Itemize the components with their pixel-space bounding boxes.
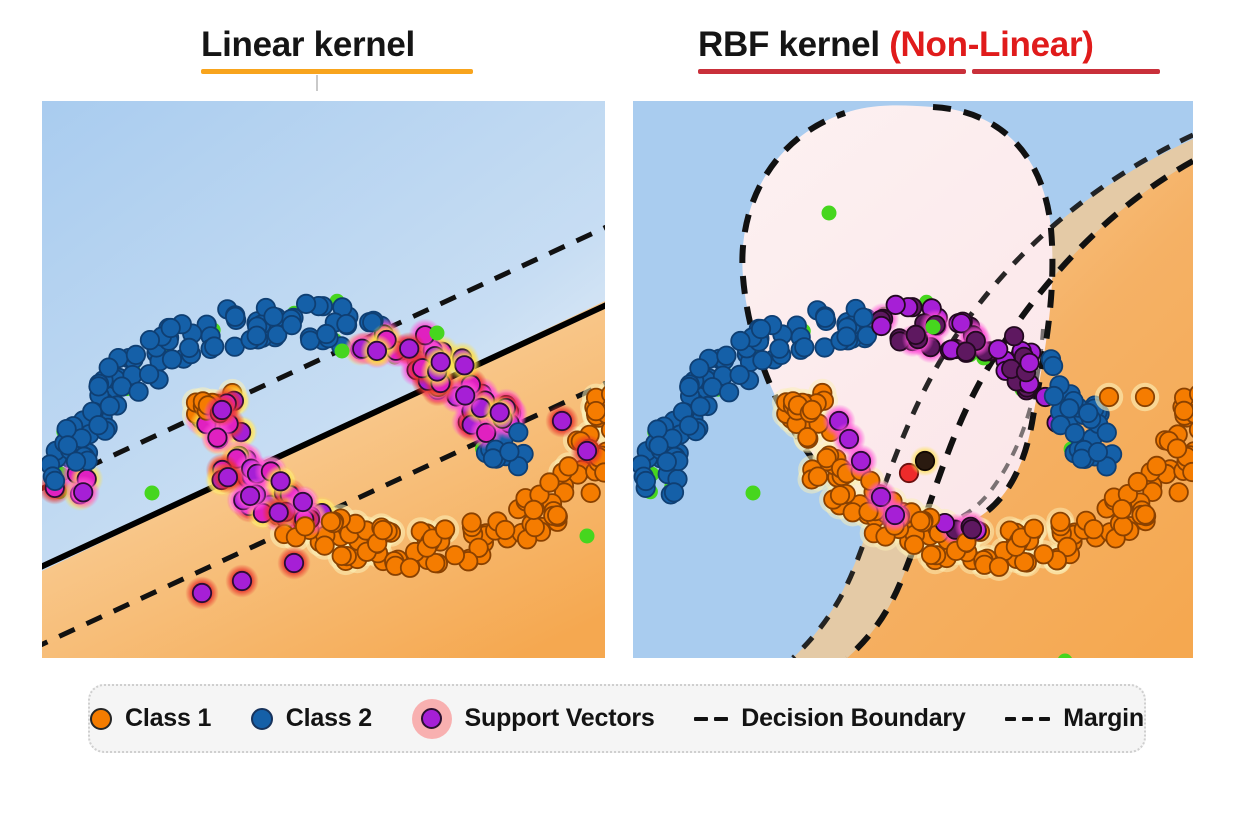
class2-marker-icon <box>251 708 273 730</box>
plot-linear-kernel[interactable] <box>42 101 605 658</box>
dashed-line-icon <box>694 717 728 721</box>
legend-item-support-vectors[interactable]: Support Vectors <box>412 699 655 739</box>
legend-item-class1[interactable]: Class 1 <box>90 704 211 733</box>
legend-spacer <box>211 718 251 719</box>
legend-label-support-vectors: Support Vectors <box>465 704 655 733</box>
plot-linear-svg <box>42 101 605 658</box>
plot-rbf-kernel[interactable] <box>633 101 1193 658</box>
panel-title-linear-underline <box>201 69 473 74</box>
support-vector-marker-icon <box>421 708 442 729</box>
class1-marker-icon <box>90 708 112 730</box>
legend-label-class1: Class 1 <box>125 704 211 733</box>
title-tick-mark <box>316 75 318 91</box>
figure-stage: Linear kernel RBF kernel (Non-Linear) <box>0 0 1233 822</box>
panel-title-rbf-underline-b <box>972 69 1160 74</box>
plot-rbf-svg <box>633 101 1193 658</box>
legend-box: Class 1 Class 2 Support Vectors Decision… <box>88 684 1146 753</box>
legend-spacer <box>372 718 412 719</box>
legend-spacer <box>655 718 695 719</box>
dashed-line-margin-icon <box>1005 717 1050 721</box>
panel-title-linear: Linear kernel <box>201 27 415 62</box>
panel-title-rbf-text: RBF kernel <box>698 25 889 64</box>
legend-spacer <box>966 718 1006 719</box>
panel-title-rbf-accent: (Non-Linear) <box>889 25 1093 64</box>
support-vector-halo-icon <box>412 699 452 739</box>
panel-title-linear-text: Linear kernel <box>201 25 415 64</box>
legend-item-margin[interactable]: Margin <box>1005 704 1144 733</box>
legend-label-margin: Margin <box>1063 704 1144 733</box>
legend-label-class2: Class 2 <box>286 704 372 733</box>
legend-item-class2[interactable]: Class 2 <box>251 704 372 733</box>
panel-title-rbf-underline-a <box>698 69 966 74</box>
legend-label-decision-boundary: Decision Boundary <box>741 704 965 733</box>
panel-title-rbf: RBF kernel (Non-Linear) <box>698 27 1094 62</box>
legend-item-decision-boundary[interactable]: Decision Boundary <box>694 704 965 733</box>
